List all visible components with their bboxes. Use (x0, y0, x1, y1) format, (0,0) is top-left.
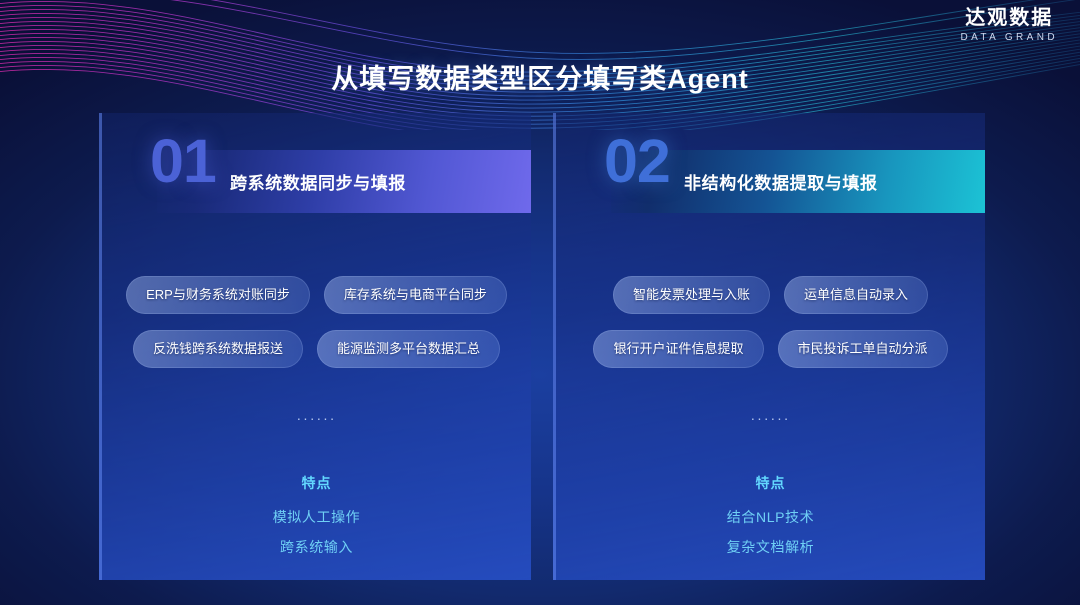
tag-pill[interactable]: 智能发票处理与入账 (613, 276, 770, 314)
feature-item: 跨系统输入 (102, 537, 531, 557)
card-number: 01 (150, 131, 216, 192)
features-section: 特点 结合NLP技术 复杂文档解析 (556, 473, 985, 567)
card-title: 非结构化数据提取与填报 (684, 169, 878, 194)
card-title: 跨系统数据同步与填报 (230, 169, 406, 194)
features-title: 特点 (556, 473, 985, 493)
ellipsis-more: ······ (556, 410, 985, 426)
page-title: 从填写数据类型区分填写类Agent (0, 57, 1080, 96)
ellipsis-more: ······ (102, 410, 531, 426)
tag-pill[interactable]: 市民投诉工单自动分派 (778, 330, 948, 368)
company-logo: 达观数据 DATA GRAND (960, 8, 1058, 43)
card-inner: 跨系统数据同步与填报 01 ERP与财务系统对账同步 库存系统与电商平台同步 反… (102, 113, 531, 580)
tag-list: ERP与财务系统对账同步 库存系统与电商平台同步 反洗钱跨系统数据报送 能源监测… (102, 276, 531, 384)
features-section: 特点 模拟人工操作 跨系统输入 (102, 473, 531, 567)
tag-pill[interactable]: 库存系统与电商平台同步 (324, 276, 507, 314)
tag-list: 智能发票处理与入账 运单信息自动录入 银行开户证件信息提取 市民投诉工单自动分派 (556, 276, 985, 384)
content-card-02: 非结构化数据提取与填报 02 智能发票处理与入账 运单信息自动录入 银行开户证件… (553, 113, 985, 580)
content-card-01: 跨系统数据同步与填报 01 ERP与财务系统对账同步 库存系统与电商平台同步 反… (99, 113, 531, 580)
tag-row: ERP与财务系统对账同步 库存系统与电商平台同步 (102, 276, 531, 314)
feature-item: 复杂文档解析 (556, 537, 985, 557)
slide-canvas: 达观数据 DATA GRAND 从填写数据类型区分填写类Agent 跨系统数据同… (0, 0, 1080, 605)
feature-item: 模拟人工操作 (102, 507, 531, 527)
feature-item: 结合NLP技术 (556, 507, 985, 527)
tag-row: 智能发票处理与入账 运单信息自动录入 (556, 276, 985, 314)
tag-pill[interactable]: 运单信息自动录入 (784, 276, 928, 314)
tag-pill[interactable]: 能源监测多平台数据汇总 (317, 330, 500, 368)
features-title: 特点 (102, 473, 531, 493)
logo-text-cn: 达观数据 (960, 8, 1058, 28)
tag-pill[interactable]: ERP与财务系统对账同步 (126, 276, 310, 314)
card-number: 02 (604, 131, 670, 192)
card-inner: 非结构化数据提取与填报 02 智能发票处理与入账 运单信息自动录入 银行开户证件… (556, 113, 985, 580)
tag-row: 反洗钱跨系统数据报送 能源监测多平台数据汇总 (102, 330, 531, 368)
tag-pill[interactable]: 银行开户证件信息提取 (593, 330, 763, 368)
tag-row: 银行开户证件信息提取 市民投诉工单自动分派 (556, 330, 985, 368)
tag-pill[interactable]: 反洗钱跨系统数据报送 (133, 330, 303, 368)
logo-text-en: DATA GRAND (960, 33, 1058, 43)
